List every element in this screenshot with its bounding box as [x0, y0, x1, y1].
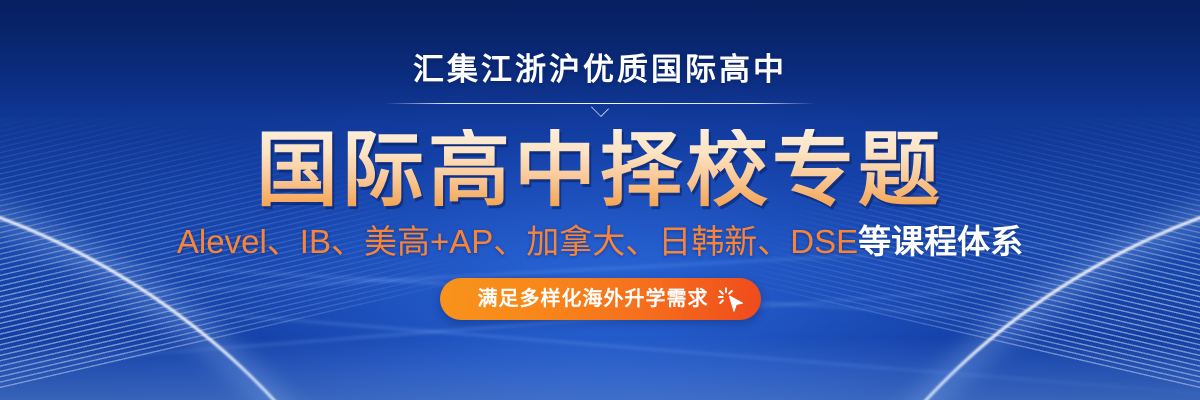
subtitle-course-list: Alevel、IB、美高+AP、加拿大、日韩新、DSE: [177, 223, 858, 260]
chevron-down-icon: [591, 99, 609, 117]
cta-button[interactable]: 满足多样化海外升学需求: [440, 278, 761, 320]
banner-content: 汇集江浙沪优质国际高中 国际高中择校专题 Alevel、IB、美高+AP、加拿大…: [0, 0, 1200, 400]
cursor-click-icon: [717, 286, 745, 314]
chevron-divider: [384, 103, 816, 115]
banner-subtitle: Alevel、IB、美高+AP、加拿大、日韩新、DSE等课程体系: [177, 225, 1023, 258]
page-title: 国际高中择校专题: [256, 129, 944, 213]
promo-banner: 汇集江浙沪优质国际高中 国际高中择校专题 Alevel、IB、美高+AP、加拿大…: [0, 0, 1200, 400]
banner-eyebrow: 汇集江浙沪优质国际高中: [413, 54, 787, 85]
cta-button-label: 满足多样化海外升学需求: [478, 289, 709, 309]
subtitle-suffix: 等课程体系: [858, 223, 1023, 260]
